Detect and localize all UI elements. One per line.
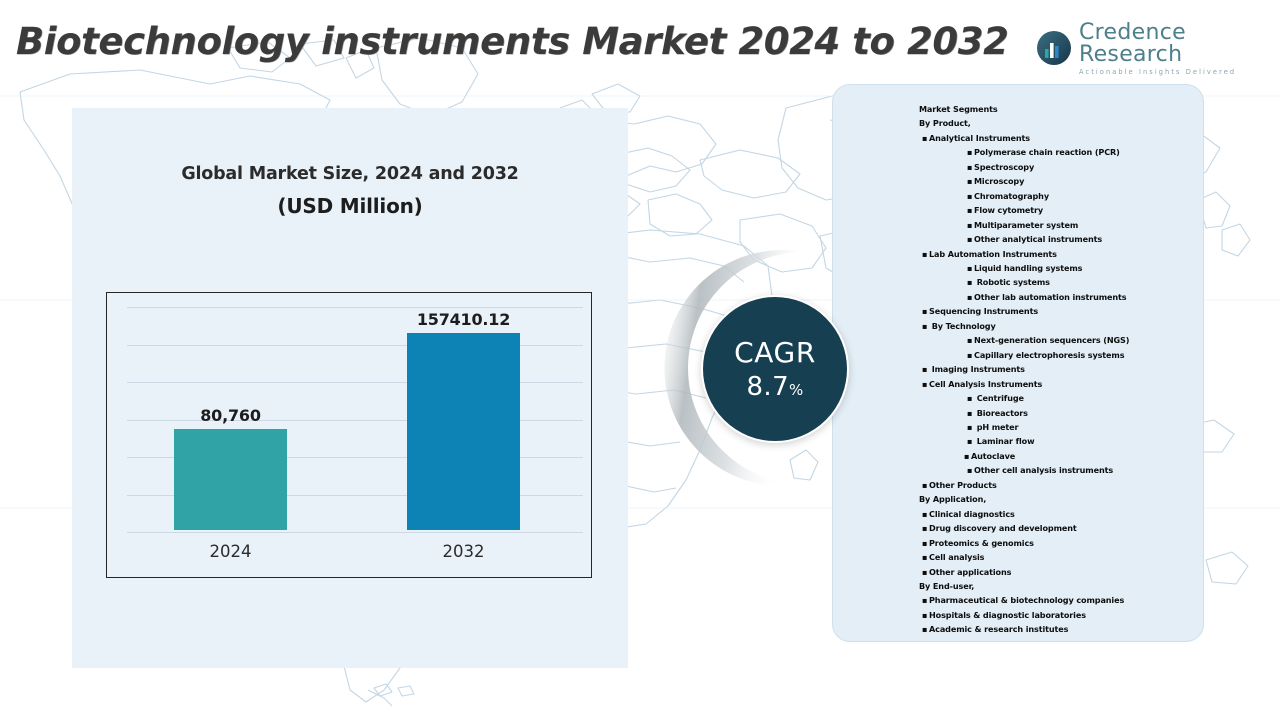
- bullet-square-icon: ▪: [967, 391, 974, 405]
- page-title: Biotechnology instruments Market 2024 to…: [16, 20, 1008, 63]
- bullet-square-icon: ▪: [967, 218, 974, 232]
- segment-item-label: Cell Analysis Instruments: [929, 379, 1042, 389]
- segment-bullet-item: ▪Other applications: [919, 565, 1204, 579]
- segment-item-label: Autoclave: [971, 451, 1015, 461]
- cagr-circle: CAGR 8.7 %: [701, 295, 849, 443]
- segment-item-label: Cell analysis: [929, 552, 984, 562]
- cagr-value-row: 8.7 %: [746, 374, 803, 400]
- segment-bullet-item: ▪Clinical diagnostics: [919, 507, 1204, 521]
- segment-item-label: Bioreactors: [974, 408, 1028, 418]
- bullet-square-icon: ▪: [922, 304, 929, 318]
- segment-item-label: Next-generation sequencers (NGS): [974, 335, 1129, 345]
- bullet-square-icon: ▪: [967, 145, 974, 159]
- bullet-square-icon: ▪: [967, 174, 974, 188]
- segment-bullet-item: ▪Pharmaceutical & biotechnology companie…: [919, 593, 1204, 607]
- segment-item-label: By Technology: [929, 321, 996, 331]
- segment-bullet-item: ▪Multiparameter system: [919, 218, 1204, 232]
- bar-column: 80,7602024: [174, 429, 287, 530]
- segment-bullet-item: ▪Analytical Instruments: [919, 131, 1204, 145]
- bullet-square-icon: ▪: [922, 622, 929, 636]
- chart-title-line-2: (USD Million): [72, 194, 628, 218]
- segment-item-label: Other Products: [929, 480, 997, 490]
- bar-chart-circle-icon: [1036, 30, 1072, 66]
- segment-bullet-item: ▪ pH meter: [919, 420, 1204, 434]
- bullet-square-icon: ▪: [922, 247, 929, 261]
- segment-item-label: Spectroscopy: [974, 162, 1034, 172]
- chart-panel: Global Market Size, 2024 and 2032 (USD M…: [72, 108, 628, 668]
- cagr-badge: CAGR 8.7 %: [628, 238, 886, 498]
- segment-bullet-item: ▪Autoclave: [919, 449, 1204, 463]
- bullet-square-icon: ▪: [964, 449, 971, 463]
- segment-bullet-item: ▪Microscopy: [919, 174, 1204, 188]
- segment-bullet-item: ▪Other analytical instruments: [919, 232, 1204, 246]
- bullet-square-icon: ▪: [967, 275, 974, 289]
- segment-item-label: Flow cytometry: [974, 205, 1043, 215]
- bullet-square-icon: ▪: [967, 232, 974, 246]
- cagr-value: 8.7: [746, 374, 789, 400]
- cagr-unit: %: [789, 383, 803, 398]
- bar-chart-plot-area: 80,7602024157410.122032: [106, 292, 592, 578]
- segment-bullet-item: ▪Other Products: [919, 478, 1204, 492]
- bars-layer: 80,7602024157410.122032: [107, 293, 591, 577]
- bar-value-label: 157410.12: [391, 310, 536, 329]
- segment-item-label: Robotic systems: [974, 277, 1050, 287]
- bullet-square-icon: ▪: [922, 536, 929, 550]
- segment-bullet-item: ▪Proteomics & genomics: [919, 536, 1204, 550]
- category-label: 2024: [148, 542, 313, 561]
- bullet-square-icon: ▪: [967, 333, 974, 347]
- segment-bullet-item: ▪Chromatography: [919, 189, 1204, 203]
- bullet-square-icon: ▪: [922, 319, 929, 333]
- segment-bullet-item: ▪ Centrifuge: [919, 391, 1204, 405]
- segment-bullet-item: ▪ By Technology: [919, 319, 1204, 333]
- segment-item-label: Drug discovery and development: [929, 523, 1077, 533]
- bullet-square-icon: ▪: [922, 362, 929, 376]
- bullet-square-icon: ▪: [967, 203, 974, 217]
- segment-item-label: Multiparameter system: [974, 220, 1078, 230]
- segment-item-label: Microscopy: [974, 176, 1024, 186]
- segment-bullet-item: ▪Academic & research institutes: [919, 622, 1204, 636]
- market-segments-list: Market SegmentsBy Product,▪Analytical In…: [919, 102, 1204, 637]
- segment-item-label: Other cell analysis instruments: [974, 465, 1113, 475]
- bullet-square-icon: ▪: [967, 434, 974, 448]
- bar-rect: [407, 333, 520, 530]
- bar-value-label: 80,760: [158, 406, 303, 425]
- segment-heading: By Application,: [919, 492, 1204, 506]
- segment-bullet-item: ▪Liquid handling systems: [919, 261, 1204, 275]
- bullet-square-icon: ▪: [967, 160, 974, 174]
- segment-bullet-item: ▪Cell analysis: [919, 550, 1204, 564]
- segment-item-label: Pharmaceutical & biotechnology companies: [929, 595, 1124, 605]
- segment-item-label: Liquid handling systems: [974, 263, 1082, 273]
- segment-bullet-item: ▪ Imaging Instruments: [919, 362, 1204, 376]
- segment-bullet-item: ▪Lab Automation Instruments: [919, 247, 1204, 261]
- segment-item-label: Clinical diagnostics: [929, 509, 1015, 519]
- segment-item-label: Centrifuge: [974, 393, 1024, 403]
- segment-item-label: Proteomics & genomics: [929, 538, 1034, 548]
- segment-heading: Market Segments: [919, 102, 1204, 116]
- segment-bullet-item: ▪Other lab automation instruments: [919, 290, 1204, 304]
- bullet-square-icon: ▪: [922, 608, 929, 622]
- bullet-square-icon: ▪: [967, 463, 974, 477]
- segment-bullet-item: ▪Other cell analysis instruments: [919, 463, 1204, 477]
- cagr-label: CAGR: [734, 339, 816, 367]
- chart-title-line-1: Global Market Size, 2024 and 2032: [72, 164, 628, 184]
- bullet-square-icon: ▪: [922, 377, 929, 391]
- segment-bullet-item: ▪ Bioreactors: [919, 406, 1204, 420]
- segment-bullet-item: ▪ Laminar flow: [919, 434, 1204, 448]
- bullet-square-icon: ▪: [922, 478, 929, 492]
- segment-item-label: Sequencing Instruments: [929, 306, 1038, 316]
- bar-rect: [174, 429, 287, 530]
- bullet-square-icon: ▪: [967, 348, 974, 362]
- segment-bullet-item: ▪Polymerase chain reaction (PCR): [919, 145, 1204, 159]
- segment-item-label: Polymerase chain reaction (PCR): [974, 147, 1120, 157]
- segment-bullet-item: ▪Capillary electrophoresis systems: [919, 348, 1204, 362]
- segment-item-label: Other analytical instruments: [974, 234, 1102, 244]
- bullet-square-icon: ▪: [967, 420, 974, 434]
- bullet-square-icon: ▪: [967, 189, 974, 203]
- segment-heading: By End-user,: [919, 579, 1204, 593]
- bullet-square-icon: ▪: [922, 550, 929, 564]
- segment-item-label: Imaging Instruments: [929, 364, 1025, 374]
- segment-bullet-item: ▪Next-generation sequencers (NGS): [919, 333, 1204, 347]
- bullet-square-icon: ▪: [922, 565, 929, 579]
- segment-item-label: Chromatography: [974, 191, 1049, 201]
- bullet-square-icon: ▪: [922, 593, 929, 607]
- segment-bullet-item: ▪Hospitals & diagnostic laboratories: [919, 608, 1204, 622]
- brand-name: Credence Research: [1079, 22, 1254, 66]
- segment-bullet-item: ▪Drug discovery and development: [919, 521, 1204, 535]
- segment-bullet-item: ▪Flow cytometry: [919, 203, 1204, 217]
- segment-item-label: pH meter: [974, 422, 1018, 432]
- bullet-square-icon: ▪: [967, 406, 974, 420]
- brand-text: Credence Research Actionable Insights De…: [1079, 20, 1254, 76]
- bar-column: 157410.122032: [407, 333, 520, 530]
- segment-item-label: Laminar flow: [974, 436, 1034, 446]
- segment-heading: By Product,: [919, 116, 1204, 130]
- segment-item-label: Lab Automation Instruments: [929, 249, 1057, 259]
- market-segments-panel: Market SegmentsBy Product,▪Analytical In…: [832, 84, 1204, 642]
- bullet-square-icon: ▪: [922, 521, 929, 535]
- segment-item-label: Hospitals & diagnostic laboratories: [929, 610, 1086, 620]
- category-label: 2032: [381, 542, 546, 561]
- segment-item-label: Other applications: [929, 567, 1011, 577]
- bullet-square-icon: ▪: [922, 131, 929, 145]
- segment-item-label: Academic & research institutes: [929, 624, 1068, 634]
- bullet-square-icon: ▪: [967, 290, 974, 304]
- header: Biotechnology instruments Market 2024 to…: [0, 0, 1280, 86]
- segment-item-label: Analytical Instruments: [929, 133, 1030, 143]
- segment-bullet-item: ▪Cell Analysis Instruments: [919, 377, 1204, 391]
- bullet-square-icon: ▪: [922, 507, 929, 521]
- segment-item-label: Other lab automation instruments: [974, 292, 1127, 302]
- brand-logo: Credence Research Actionable Insights De…: [1036, 24, 1254, 72]
- brand-tagline: Actionable Insights Delivered: [1079, 69, 1254, 76]
- segment-bullet-item: ▪ Robotic systems: [919, 275, 1204, 289]
- segment-bullet-item: ▪Spectroscopy: [919, 160, 1204, 174]
- segment-bullet-item: ▪Sequencing Instruments: [919, 304, 1204, 318]
- segment-item-label: Capillary electrophoresis systems: [974, 350, 1124, 360]
- bullet-square-icon: ▪: [967, 261, 974, 275]
